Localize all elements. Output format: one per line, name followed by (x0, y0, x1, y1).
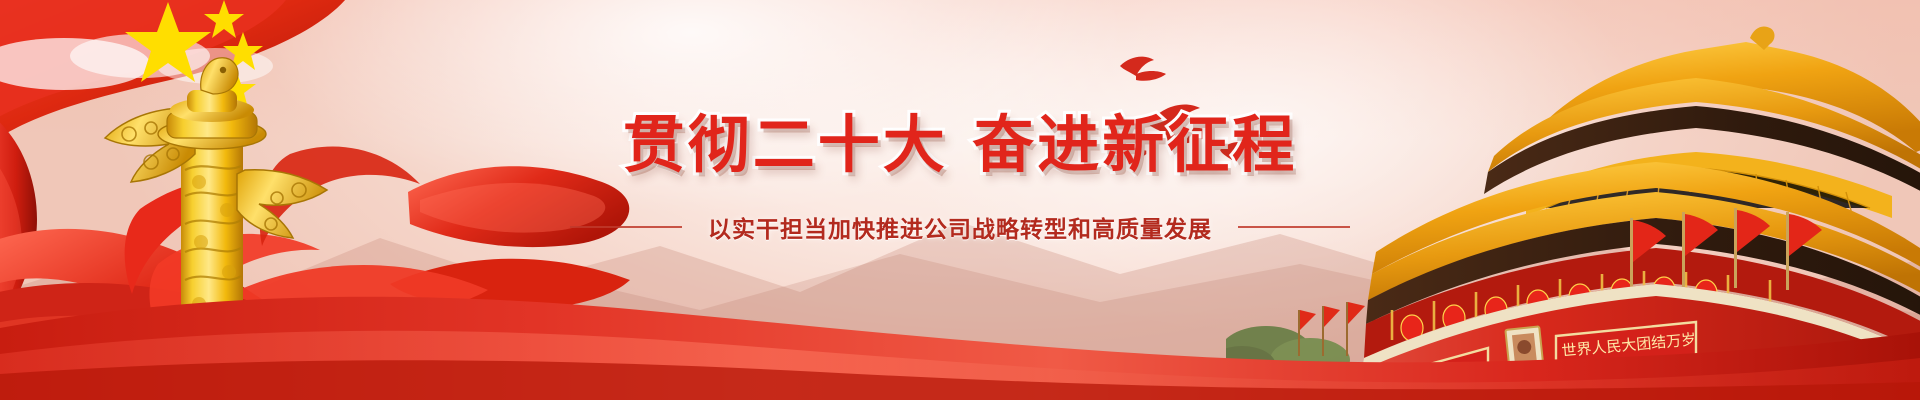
celebration-banner: 中华人民共和国万岁 世界人民大团结万岁 (0, 0, 1920, 400)
banner-title: 贯彻二十大 奋进新征程 (623, 94, 1298, 184)
subtitle-rule-left (570, 226, 682, 228)
banner-subtitle: 以实干担当加快推进公司战略转型和高质量发展 (708, 210, 1212, 244)
bottom-red-wave-icon (0, 270, 1920, 400)
subtitle-rule-right (1238, 226, 1350, 228)
banner-subtitle-row: 以实干担当加快推进公司战略转型和高质量发展 (570, 210, 1350, 244)
